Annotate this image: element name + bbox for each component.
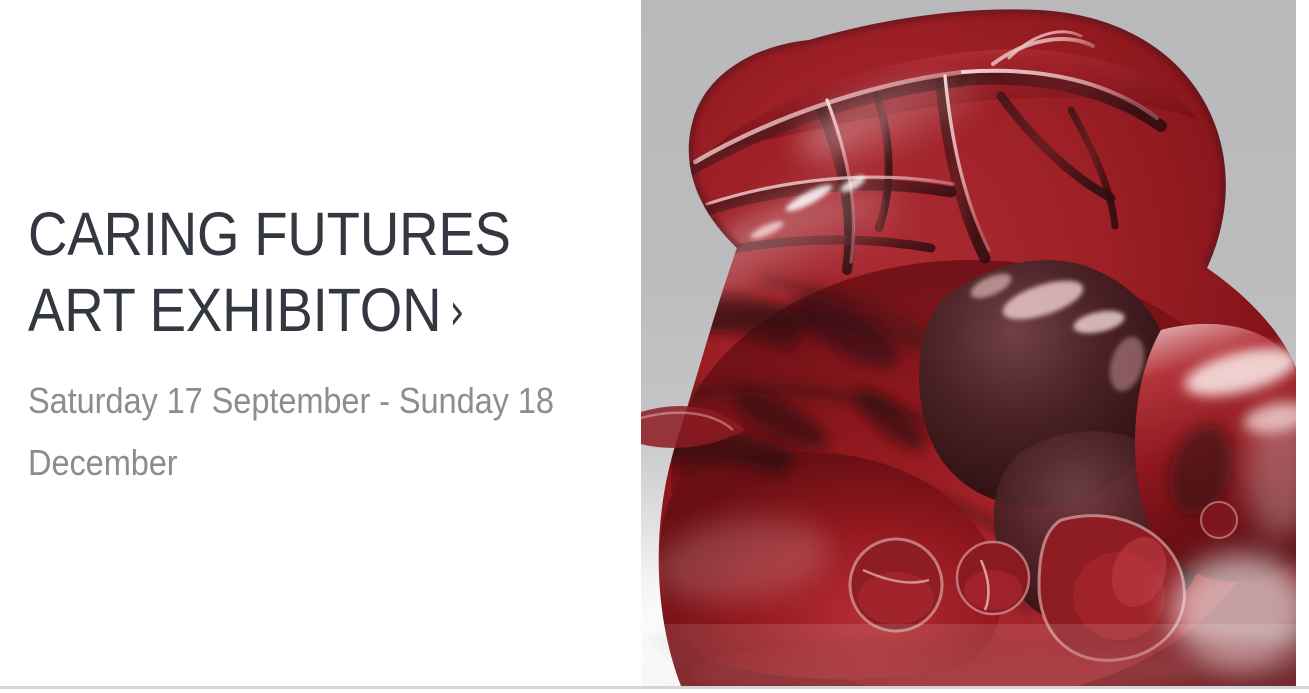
glass-heart-sculpture-image xyxy=(641,0,1296,686)
promo-banner[interactable]: CARING FUTURES ART EXHIBITON› Saturday 1… xyxy=(0,0,1309,693)
banner-text-panel: CARING FUTURES ART EXHIBITON› Saturday 1… xyxy=(0,0,641,686)
banner-image-panel[interactable] xyxy=(641,0,1296,686)
banner-right-gutter xyxy=(1296,0,1309,686)
banner-bottom-divider xyxy=(0,686,1309,693)
banner-heading-label: CARING FUTURES ART EXHIBITON xyxy=(28,200,511,344)
banner-text-block: CARING FUTURES ART EXHIBITON› Saturday 1… xyxy=(28,196,608,494)
banner-heading[interactable]: CARING FUTURES ART EXHIBITON› xyxy=(28,196,605,348)
banner-subheading: Saturday 17 September - Sunday 18 Decemb… xyxy=(28,370,607,494)
chevron-right-icon: › xyxy=(449,286,464,338)
